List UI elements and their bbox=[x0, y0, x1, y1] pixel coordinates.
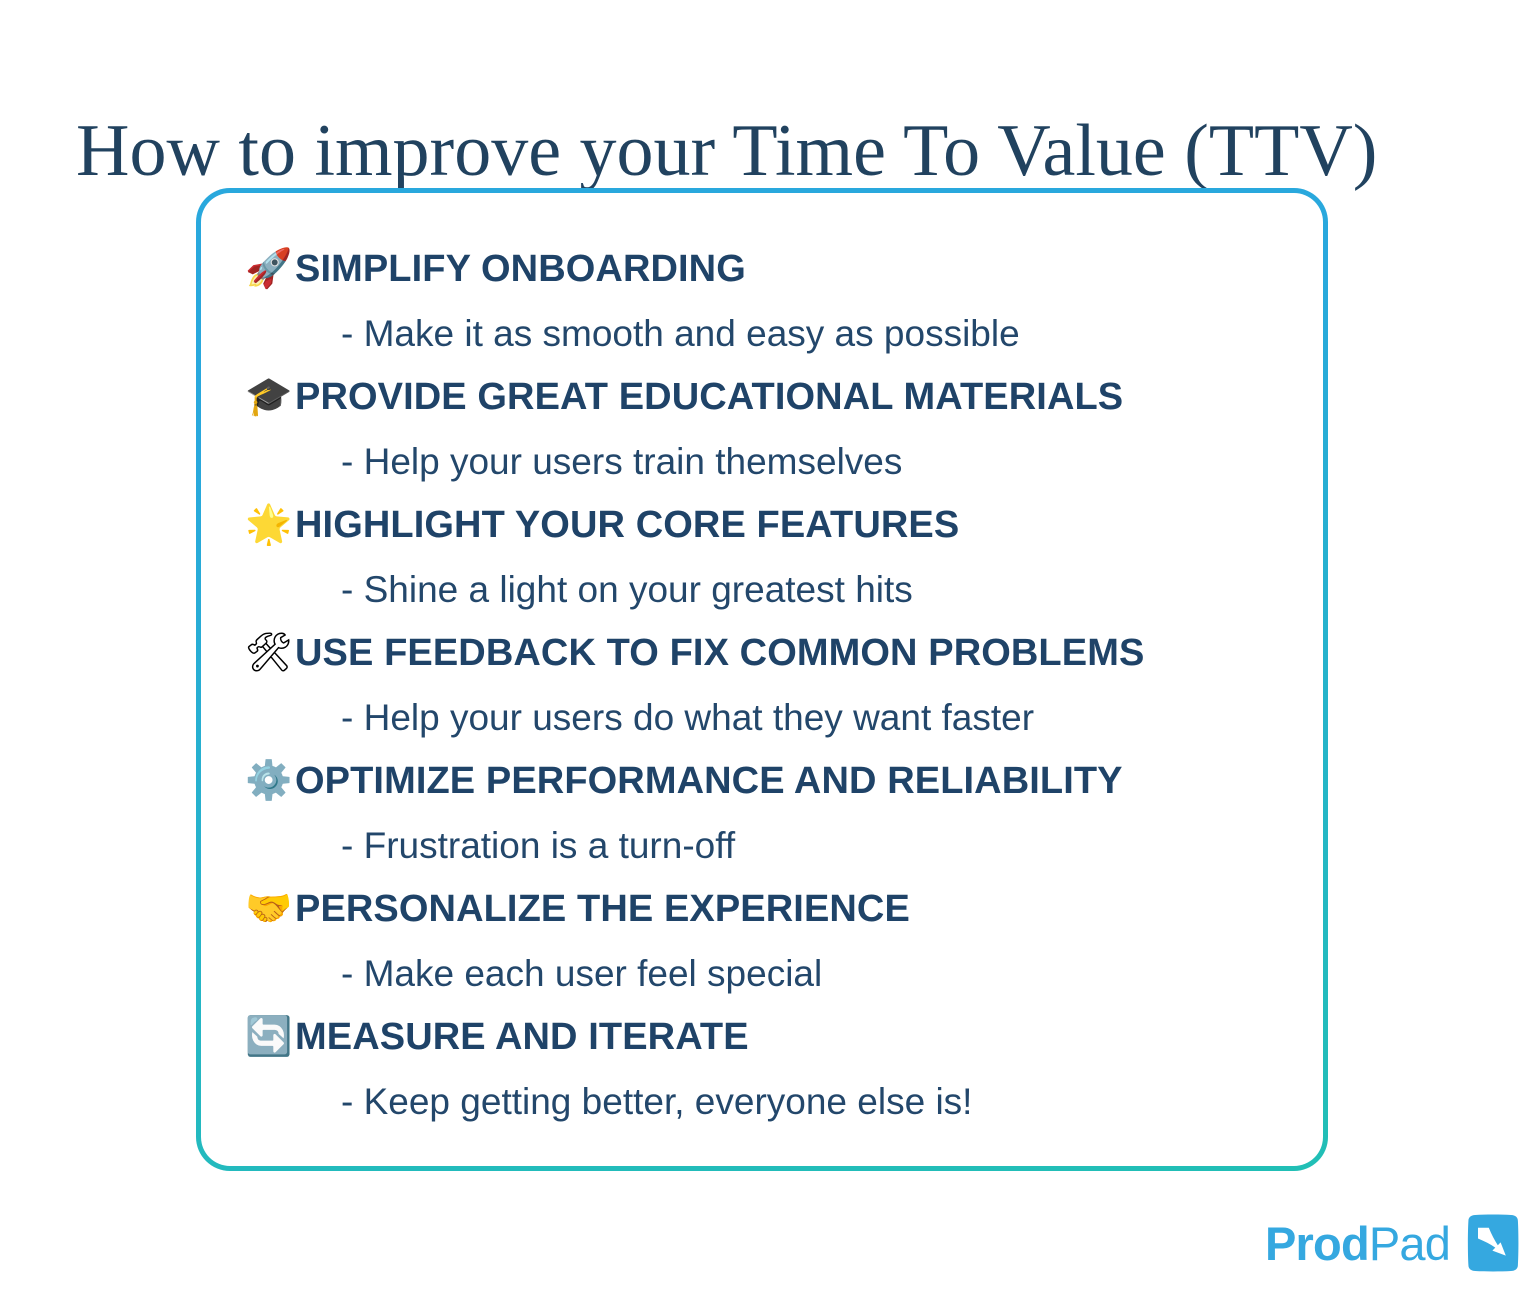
tip-title: PROVIDE GREAT EDUCATIONAL MATERIALS bbox=[295, 378, 1123, 416]
tip-subtitle: - Help your users train themselves bbox=[201, 429, 1323, 493]
list-item: 🚀SIMPLIFY ONBOARDING- Make it as smooth … bbox=[201, 237, 1323, 365]
prodpad-logo: ProdPad bbox=[1265, 1212, 1522, 1274]
list-item: 🌟HIGHLIGHT YOUR CORE FEATURES- Shine a l… bbox=[201, 493, 1323, 621]
tip-subtitle: - Keep getting better, everyone else is! bbox=[201, 1069, 1323, 1133]
tip-heading-row: 🎓PROVIDE GREAT EDUCATIONAL MATERIALS bbox=[201, 365, 1323, 429]
tips-card-inner: 🚀SIMPLIFY ONBOARDING- Make it as smooth … bbox=[201, 193, 1323, 1166]
tip-title: OPTIMIZE PERFORMANCE AND RELIABILITY bbox=[295, 762, 1123, 800]
tip-title: USE FEEDBACK TO FIX COMMON PROBLEMS bbox=[295, 634, 1144, 672]
tip-heading-row: 🤝PERSONALIZE THE EXPERIENCE bbox=[201, 877, 1323, 941]
tip-subtitle: - Help your users do what they want fast… bbox=[201, 685, 1323, 749]
tip-subtitle: - Frustration is a turn-off bbox=[201, 813, 1323, 877]
tips-list: 🚀SIMPLIFY ONBOARDING- Make it as smooth … bbox=[201, 193, 1323, 1133]
list-item: 🔄MEASURE AND ITERATE- Keep getting bette… bbox=[201, 1005, 1323, 1133]
tip-title: SIMPLIFY ONBOARDING bbox=[295, 250, 746, 288]
tip-heading-row: 🔄MEASURE AND ITERATE bbox=[201, 1005, 1323, 1069]
hammer-and-wrench-icon: 🛠 bbox=[243, 633, 295, 671]
list-item: 🎓PROVIDE GREAT EDUCATIONAL MATERIALS- He… bbox=[201, 365, 1323, 493]
list-item: 🛠USE FEEDBACK TO FIX COMMON PROBLEMS- He… bbox=[201, 621, 1323, 749]
glowing-star-icon: 🌟 bbox=[243, 505, 295, 543]
list-item: ⚙️OPTIMIZE PERFORMANCE AND RELIABILITY- … bbox=[201, 749, 1323, 877]
tip-heading-row: 🚀SIMPLIFY ONBOARDING bbox=[201, 237, 1323, 301]
tip-title: HIGHLIGHT YOUR CORE FEATURES bbox=[295, 506, 959, 544]
prodpad-wordmark-bold: Prod bbox=[1265, 1217, 1369, 1270]
rocket-icon: 🚀 bbox=[243, 249, 295, 287]
tip-heading-row: 🌟HIGHLIGHT YOUR CORE FEATURES bbox=[201, 493, 1323, 557]
page-title: How to improve your Time To Value (TTV) bbox=[76, 114, 1476, 188]
tips-card: 🚀SIMPLIFY ONBOARDING- Make it as smooth … bbox=[196, 188, 1328, 1171]
tip-heading-row: 🛠USE FEEDBACK TO FIX COMMON PROBLEMS bbox=[201, 621, 1323, 685]
tip-subtitle: - Make each user feel special bbox=[201, 941, 1323, 1005]
prodpad-arrow-mark bbox=[1464, 1214, 1522, 1272]
tip-title: PERSONALIZE THE EXPERIENCE bbox=[295, 890, 910, 928]
prodpad-wordmark-light: Pad bbox=[1369, 1217, 1450, 1270]
tip-subtitle: - Make it as smooth and easy as possible bbox=[201, 301, 1323, 365]
gear-icon: ⚙️ bbox=[243, 761, 295, 799]
tip-title: MEASURE AND ITERATE bbox=[295, 1018, 749, 1056]
graduation-cap-icon: 🎓 bbox=[243, 377, 295, 415]
handshake-icon: 🤝 bbox=[243, 889, 295, 927]
tip-heading-row: ⚙️OPTIMIZE PERFORMANCE AND RELIABILITY bbox=[201, 749, 1323, 813]
tip-subtitle: - Shine a light on your greatest hits bbox=[201, 557, 1323, 621]
prodpad-wordmark: ProdPad bbox=[1265, 1220, 1450, 1267]
arrows-counterclockwise-icon: 🔄 bbox=[243, 1017, 295, 1055]
list-item: 🤝PERSONALIZE THE EXPERIENCE- Make each u… bbox=[201, 877, 1323, 1005]
